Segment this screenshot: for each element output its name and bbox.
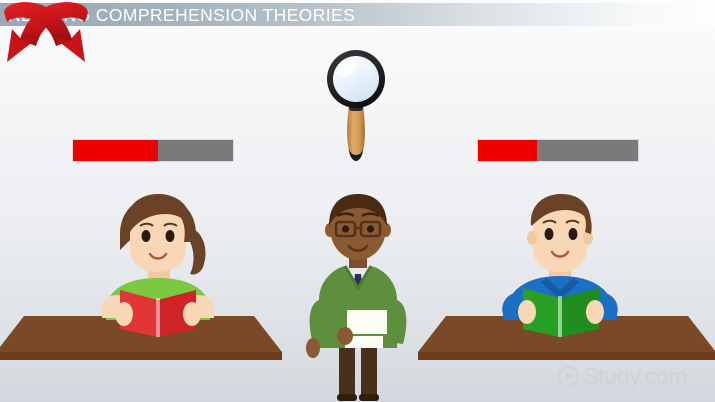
left-progress-bar (72, 139, 234, 162)
girl-book-spine (156, 298, 160, 337)
teacher-eye-left (342, 225, 349, 232)
boy-hand-right (586, 300, 604, 324)
arrow-down-right-svg (0, 0, 92, 70)
watermark-text: Study.com (583, 364, 687, 388)
teacher-ear-right (381, 223, 391, 237)
boy-reading (491, 192, 641, 342)
teacher-leg-right (361, 342, 377, 400)
boy-svg (491, 192, 641, 337)
title-bar: READING COMPREHENSION THEORIES (0, 3, 715, 26)
boy-eye-left (545, 228, 554, 240)
teacher (295, 192, 421, 402)
slide-canvas: READING COMPREHENSION THEORIES (0, 0, 715, 402)
boy-ear-right (583, 231, 593, 245)
teacher-hand-left (306, 338, 320, 358)
girl-hand-right (183, 302, 201, 326)
girl-reading (86, 192, 246, 342)
teacher-leg-left (339, 342, 355, 400)
teacher-papers-top (347, 310, 387, 334)
boy-hand-left (518, 300, 536, 324)
boy-book-spine (558, 296, 562, 337)
girl-eye-right (166, 230, 175, 242)
teacher-shoe-right (359, 394, 379, 401)
girl-svg (86, 192, 246, 337)
girl-hand-left (115, 302, 133, 326)
left-progress-fill (73, 140, 158, 161)
watermark: Study.com (558, 364, 687, 388)
girl-eye-left (142, 230, 151, 242)
magnifying-glass-icon (311, 47, 403, 172)
teacher-hand-holding (337, 327, 353, 345)
desk-edge (418, 352, 715, 360)
teacher-svg (295, 192, 421, 402)
boy-ear-left (527, 231, 537, 245)
teacher-eye-right (367, 225, 374, 232)
right-progress-bar (477, 139, 639, 162)
right-progress-fill (478, 140, 537, 161)
teacher-shoe-left (337, 394, 357, 401)
magnifier-svg (311, 47, 403, 167)
desk-edge (0, 352, 282, 360)
play-circle-icon (558, 366, 579, 387)
teacher-ear-left (325, 223, 335, 237)
magnifier-handle (347, 105, 365, 156)
boy-eye-right (569, 228, 578, 240)
